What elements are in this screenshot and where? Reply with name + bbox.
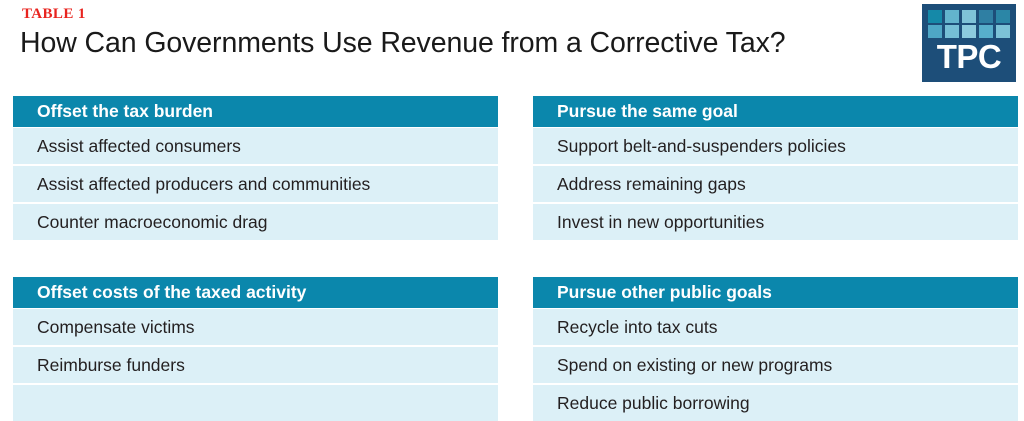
logo-tile	[928, 25, 942, 38]
logo-tile	[979, 10, 993, 23]
table-row: Address remaining gaps	[533, 166, 1018, 202]
table-block-pursue-other-public-goals: Pursue other public goals Recycle into t…	[533, 277, 1018, 421]
table-row: Assist affected producers and communitie…	[13, 166, 498, 202]
table-row: Invest in new opportunities	[533, 204, 1018, 240]
table-row: Support belt-and-suspenders policies	[533, 128, 1018, 164]
table-blocks-grid: Offset the tax burden Assist affected co…	[13, 96, 1018, 416]
logo-tile	[945, 10, 959, 23]
tpc-logo: TPC	[922, 4, 1016, 82]
logo-tile	[962, 10, 976, 23]
table-header-area: TABLE 1 How Can Governments Use Revenue …	[0, 0, 1024, 88]
table-block-pursue-the-same-goal: Pursue the same goal Support belt-and-su…	[533, 96, 1018, 240]
logo-tile	[928, 10, 942, 23]
block-header: Pursue the same goal	[533, 96, 1018, 127]
table-block-offset-the-tax-burden: Offset the tax burden Assist affected co…	[13, 96, 498, 240]
table-row: Compensate victims	[13, 309, 498, 345]
table-number-label: TABLE 1	[22, 5, 86, 23]
logo-tile	[996, 10, 1010, 23]
logo-wordmark: TPC	[922, 38, 1016, 76]
table-row: Reduce public borrowing	[533, 385, 1018, 421]
table-row: Counter macroeconomic drag	[13, 204, 498, 240]
logo-tile	[996, 25, 1010, 38]
logo-tile	[962, 25, 976, 38]
block-rows: Support belt-and-suspenders policies Add…	[533, 127, 1018, 240]
table-row: Assist affected consumers	[13, 128, 498, 164]
logo-tile	[945, 25, 959, 38]
block-rows: Assist affected consumers Assist affecte…	[13, 127, 498, 240]
table-block-offset-costs-of-the-taxed-activity: Offset costs of the taxed activity Compe…	[13, 277, 498, 421]
table-row: Reimburse funders	[13, 347, 498, 383]
table-row: Recycle into tax cuts	[533, 309, 1018, 345]
block-header: Pursue other public goals	[533, 277, 1018, 308]
logo-tile-grid	[928, 10, 1010, 38]
table-row: Spend on existing or new programs	[533, 347, 1018, 383]
logo-tile	[979, 25, 993, 38]
page-title: How Can Governments Use Revenue from a C…	[20, 25, 785, 61]
table-row-empty	[13, 385, 498, 421]
block-rows: Compensate victims Reimburse funders	[13, 308, 498, 421]
block-header: Offset the tax burden	[13, 96, 498, 127]
block-rows: Recycle into tax cuts Spend on existing …	[533, 308, 1018, 421]
block-header: Offset costs of the taxed activity	[13, 277, 498, 308]
